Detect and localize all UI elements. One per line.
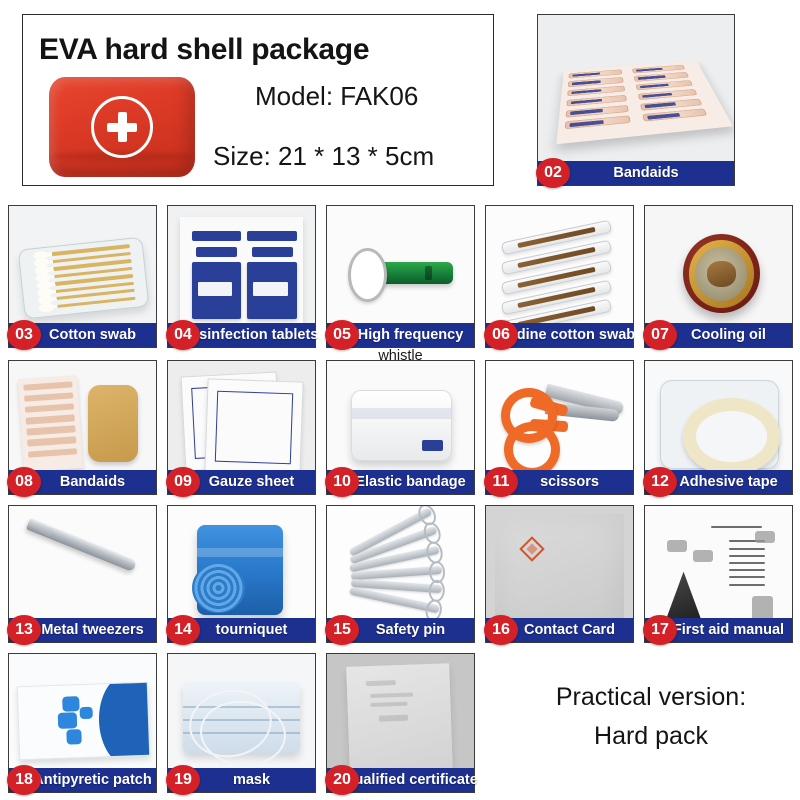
product-photo-bandaids-sheet: [538, 15, 734, 185]
tourniquet-roll-art: [197, 525, 282, 615]
product-tile-13[interactable]: Metal tweezers 13: [8, 505, 157, 643]
header-panel: EVA hard shell package Model: FAK06 Size…: [22, 14, 494, 186]
tile-number-badge: 04: [166, 320, 200, 350]
product-tile-15[interactable]: Safety pin 15: [326, 505, 475, 643]
product-tile-10[interactable]: Elastic bandage 10: [326, 360, 475, 495]
product-tile-14[interactable]: tourniquet 14: [167, 505, 316, 643]
bandaid-sheet-art: [556, 60, 733, 144]
kit-case-body: [49, 77, 195, 177]
tile-number-badge: 17: [643, 615, 677, 645]
tin-face: [695, 247, 747, 301]
product-infographic: EVA hard shell package Model: FAK06 Size…: [0, 0, 800, 800]
tile-caption: Cotton swab: [25, 327, 140, 343]
gauze-packet-art: [205, 378, 304, 476]
tile-caption: Gauze sheet: [185, 474, 298, 490]
tile-caption: Bandaids: [589, 165, 682, 181]
whistle-keyring-art: [348, 248, 388, 302]
tile-number-badge: 08: [7, 467, 41, 497]
tiger-illustration: [707, 261, 736, 287]
footer-line-1: Practical version:: [508, 678, 794, 717]
tile-number-badge: 15: [325, 615, 359, 645]
product-tile-18[interactable]: Antipyretic patch 18: [8, 653, 157, 793]
tile-number-badge: 07: [643, 320, 677, 350]
tile-caption: mask: [209, 772, 274, 788]
cotton-swab-pack-art: [17, 236, 149, 318]
tile-number-badge: 03: [7, 320, 41, 350]
product-tile-07[interactable]: Cooling oil 07: [644, 205, 793, 348]
patch-brand-wave: [97, 682, 150, 760]
tile-number-badge: 11: [484, 467, 518, 497]
tourniquet-spiral: [192, 563, 245, 613]
product-tile-04[interactable]: Disinfection tablets 04: [167, 205, 316, 348]
tile-caption-overflow: whistle: [327, 348, 474, 364]
tent-illustration: [662, 572, 706, 622]
antipyretic-patch-art: [17, 682, 151, 760]
foil-strip: [192, 231, 242, 241]
tile-number-badge: 02: [536, 158, 570, 188]
tile-number-badge: 16: [484, 615, 518, 645]
page-title: EVA hard shell package: [39, 33, 369, 67]
foil-packet: [247, 262, 297, 318]
cross-glyph: [107, 112, 137, 142]
tile-number-badge: 06: [484, 320, 518, 350]
product-tile-02[interactable]: Bandaids 02: [537, 14, 735, 186]
cooling-oil-tin-art: [683, 234, 759, 313]
elastic-bandage-roll-art: [351, 390, 453, 461]
tile-caption: Safety pin: [352, 622, 449, 638]
tile-number-badge: 09: [166, 467, 200, 497]
tourniquet-fold: [197, 548, 282, 557]
foil-strip: [252, 247, 293, 257]
product-tile-11[interactable]: scissors 11: [485, 360, 634, 495]
tape-roll-art: [683, 398, 780, 475]
contact-card-art: [495, 514, 624, 634]
model-label: Model: FAK06: [255, 81, 418, 112]
bandaid-wrapper-art: [18, 375, 83, 472]
product-tile-20[interactable]: Qualified certificate 20: [326, 653, 475, 793]
product-tile-05[interactable]: High frequency 05 whistle: [326, 205, 475, 348]
product-tile-12[interactable]: Adhesive tape 12: [644, 360, 793, 495]
certificate-art: [346, 663, 453, 774]
medical-cross-icon: [91, 96, 153, 158]
product-tile-16[interactable]: Contact Card 16: [485, 505, 634, 643]
tile-number-badge: 13: [7, 615, 41, 645]
size-label: Size: 21 * 13 * 5cm: [213, 141, 434, 172]
footer-note: Practical version: Hard pack: [508, 678, 794, 756]
tile-number-badge: 05: [325, 320, 359, 350]
product-tile-09[interactable]: Gauze sheet 09: [167, 360, 316, 495]
product-tile-08[interactable]: Bandaids 08: [8, 360, 157, 495]
tile-number-badge: 20: [325, 765, 359, 795]
product-tile-03[interactable]: Cotton swab 03: [8, 205, 157, 348]
bandaid-pad-art: [88, 385, 138, 462]
tile-number-badge: 12: [643, 467, 677, 497]
tile-caption: tourniquet: [192, 622, 292, 638]
product-tile-17[interactable]: First aid manual 17: [644, 505, 793, 643]
first-aid-kit-photo: [49, 77, 195, 177]
manual-page-art: [654, 514, 783, 634]
tile-caption: Cooling oil: [667, 327, 770, 343]
foil-strip: [247, 231, 297, 241]
tile-number-badge: 19: [166, 765, 200, 795]
bandage-band: [352, 408, 452, 419]
card-emblem-icon: [520, 537, 545, 562]
foil-packet: [192, 262, 242, 318]
product-tile-19[interactable]: mask 19: [167, 653, 316, 793]
tweezers-art: [26, 518, 137, 572]
tile-caption: Bandaids: [36, 474, 129, 490]
tile-number-badge: 14: [166, 615, 200, 645]
product-tile-06[interactable]: Iodine cotton swab 06: [485, 205, 634, 348]
footer-line-2: Hard pack: [508, 717, 794, 756]
tile-caption: scissors: [516, 474, 603, 490]
tile-number-badge: 10: [325, 467, 359, 497]
tile-number-badge: 18: [7, 765, 41, 795]
bandage-label-tab: [422, 440, 444, 451]
foil-strip: [196, 247, 237, 257]
